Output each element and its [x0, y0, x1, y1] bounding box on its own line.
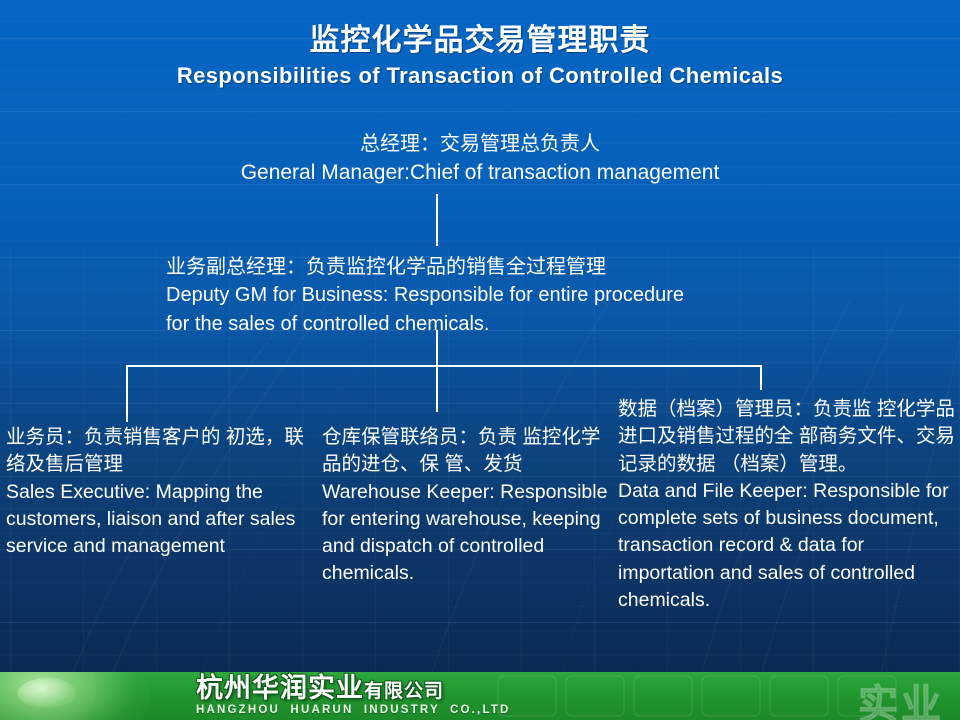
- page-title-cn: 监控化学品交易管理职责: [0, 22, 960, 60]
- org-node-data-file-keeper-cn: 数据（档案）管理员：负责监 控化学品进口及销售过程的全 部商务文件、交易记录的数…: [618, 396, 956, 478]
- connector-leg-data-keeper: [760, 365, 762, 390]
- connector-gm-to-deputy: [436, 194, 438, 246]
- connector-leg-sales: [126, 365, 128, 422]
- company-logo-cn-main: 杭州华润实业: [196, 673, 364, 703]
- connector-horizontal-bar: [126, 365, 762, 367]
- org-node-general-manager: 总经理：交易管理总负责人 General Manager:Chief of tr…: [0, 130, 960, 188]
- org-node-general-manager-en: General Manager:Chief of transaction man…: [0, 158, 960, 188]
- org-node-warehouse-keeper-en: Warehouse Keeper: Responsible for enteri…: [322, 479, 612, 588]
- connector-leg-warehouse: [436, 365, 438, 412]
- slide-title-block: 监控化学品交易管理职责 Responsibilities of Transact…: [0, 22, 960, 90]
- company-logo-cn: 杭州华润实业有限公司: [196, 675, 511, 702]
- page-title-en: Responsibilities of Transaction of Contr…: [0, 62, 960, 91]
- org-node-sales-executive: 业务员：负责销售客户的 初选，联络及售后管理 Sales Executive: …: [6, 424, 306, 560]
- org-node-deputy-gm-cn: 业务副总经理：负责监控化学品的销售全过程管理: [166, 253, 826, 281]
- company-logo: 杭州华润实业有限公司 HANGZHOU HUARUN INDUSTRY CO.,…: [196, 675, 511, 716]
- company-logo-cn-suffix: 有限公司: [364, 681, 444, 702]
- org-node-warehouse-keeper: 仓库保管联络员：负责 监控化学品的进仓、保 管、发货 Warehouse Kee…: [322, 424, 612, 588]
- org-node-warehouse-keeper-cn: 仓库保管联络员：负责 监控化学品的进仓、保 管、发货: [322, 424, 612, 479]
- org-node-deputy-gm: 业务副总经理：负责监控化学品的销售全过程管理 Deputy GM for Bus…: [166, 253, 826, 338]
- connector-trunk-vertical: [436, 330, 438, 366]
- footer-sphere-highlight: [18, 678, 76, 708]
- slide-canvas: 监控化学品交易管理职责 Responsibilities of Transact…: [0, 0, 960, 720]
- org-node-general-manager-cn: 总经理：交易管理总负责人: [0, 130, 960, 158]
- org-node-data-file-keeper-en: Data and File Keeper: Responsible for co…: [618, 478, 956, 614]
- org-node-deputy-gm-en: Deputy GM for Business: Responsible for …: [166, 281, 826, 338]
- company-logo-en: HANGZHOU HUARUN INDUSTRY CO.,LTD: [196, 704, 511, 716]
- org-node-data-file-keeper: 数据（档案）管理员：负责监 控化学品进口及销售过程的全 部商务文件、交易记录的数…: [618, 396, 956, 614]
- org-node-sales-executive-en: Sales Executive: Mapping the customers, …: [6, 479, 306, 561]
- org-node-sales-executive-cn: 业务员：负责销售客户的 初选，联络及售后管理: [6, 424, 306, 479]
- footer-watermark: 实业: [858, 672, 944, 720]
- footer-logo-band: 实业 杭州华润实业有限公司 HANGZHOU HUARUN INDUSTRY C…: [0, 672, 960, 720]
